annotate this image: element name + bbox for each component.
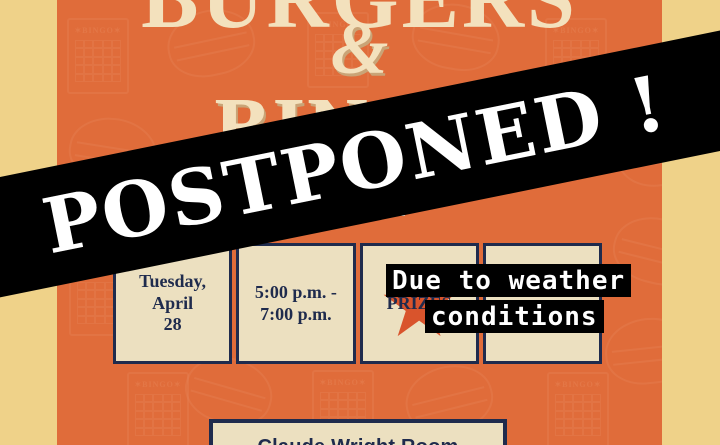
event-room-box: Claude Wright Room: [209, 419, 507, 445]
reason-sticker-line-1: Due to weather: [386, 264, 631, 297]
watermark-label: ✶BINGO✶: [129, 374, 187, 389]
event-room-text: Claude Wright Room: [257, 436, 458, 445]
burger-watermark: [602, 314, 662, 389]
event-time-text: 5:00 p.m. - 7:00 p.m.: [255, 282, 337, 326]
reason-text-line-1: Due to weather: [392, 266, 625, 296]
event-date-text: Tuesday, April 28: [139, 271, 206, 337]
screenshot-canvas: ✶BINGO✶ ✶BINGO✶ ✶BINGO✶ ✶BINGO✶ ✶BINGO✶ …: [0, 0, 720, 445]
bingo-card-watermark: ✶BINGO✶: [547, 372, 609, 445]
reason-sticker-line-2: conditions: [425, 300, 604, 333]
bingo-card-watermark: ✶BINGO✶: [127, 372, 189, 445]
watermark-label: ✶BINGO✶: [314, 372, 372, 387]
reason-text-line-2: conditions: [431, 302, 598, 332]
watermark-label: ✶BINGO✶: [549, 374, 607, 389]
table-cell-time: 5:00 p.m. - 7:00 p.m.: [236, 243, 355, 364]
